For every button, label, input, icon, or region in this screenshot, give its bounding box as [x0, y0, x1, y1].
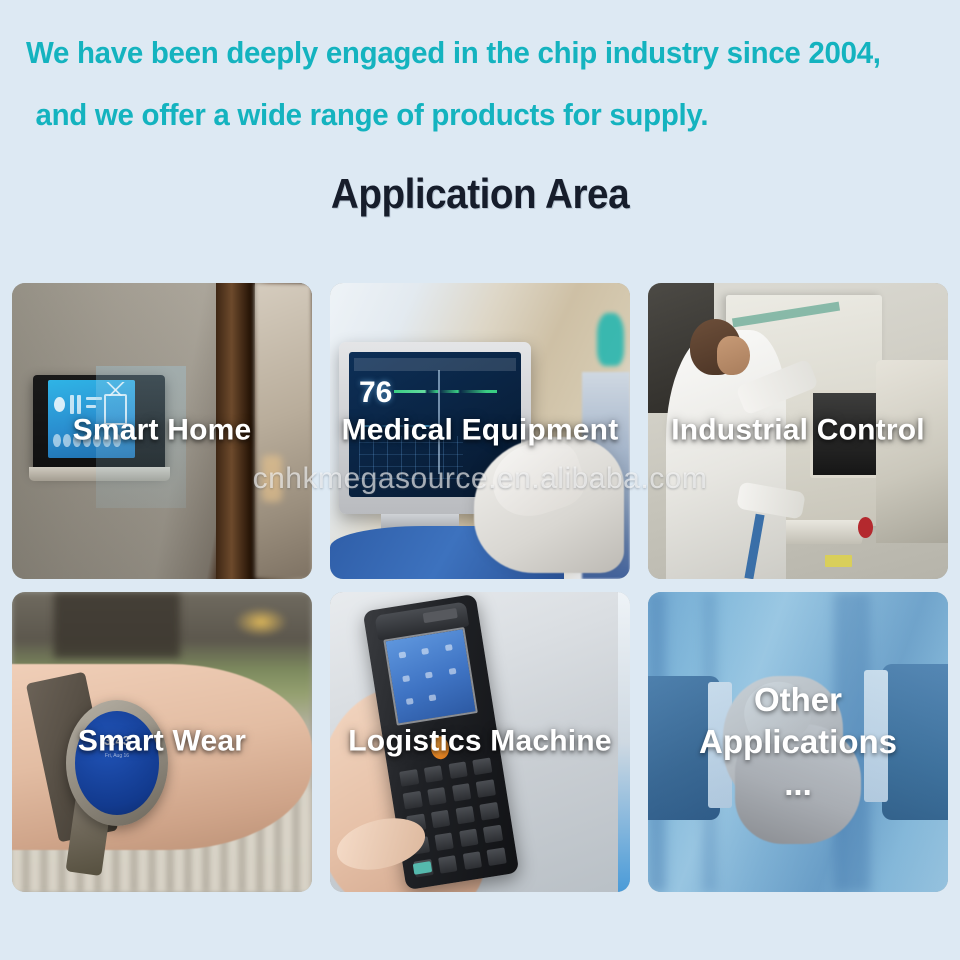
- card-label-smart-home: Smart Home: [12, 413, 312, 447]
- card-label-line-2: Applications: [648, 721, 948, 763]
- application-area-grid: Smart Home 76 Medical Equipmen: [12, 283, 948, 892]
- sun-icon: [54, 397, 65, 413]
- emergency-stop-button: [858, 517, 873, 538]
- card-label-industrial-control: Industrial Control: [648, 413, 948, 447]
- card-smart-wear[interactable]: 3:43 Fri, Aug 16 Smart Wear: [12, 592, 312, 892]
- vitals-value: 76: [359, 378, 392, 408]
- screen-text-line: [86, 405, 96, 408]
- thermometer-icon: [70, 395, 73, 414]
- tagline-line-1: We have been deeply engaged in the chip …: [26, 22, 889, 84]
- card-label-line-1: Other: [648, 679, 948, 721]
- card-label-other-applications: Other Applications ...: [648, 679, 948, 805]
- card-industrial-control[interactable]: Industrial Control: [648, 283, 948, 579]
- card-label-logistics-machine: Logistics Machine: [330, 724, 630, 758]
- card-label-line-3: ...: [648, 763, 948, 805]
- card-medical-equipment[interactable]: 76 Medical Equipment: [330, 283, 630, 579]
- card-other-applications[interactable]: Other Applications ...: [648, 592, 948, 892]
- page-header: We have been deeply engaged in the chip …: [0, 0, 960, 220]
- ecg-waveform: [394, 390, 498, 393]
- card-logistics-machine[interactable]: Logistics Machine: [330, 592, 630, 892]
- tagline-line-2: and we offer a wide range of products fo…: [26, 84, 889, 146]
- clock-icon: [77, 395, 80, 414]
- keypad[interactable]: [399, 757, 506, 877]
- smartwatch-device: 3:43 Fri, Aug 16: [66, 700, 168, 826]
- page-title: Application Area: [62, 168, 897, 220]
- terminal-screen: [383, 627, 478, 726]
- card-label-smart-wear: Smart Wear: [12, 724, 312, 758]
- card-smart-home[interactable]: Smart Home: [12, 283, 312, 579]
- card-label-medical-equipment: Medical Equipment: [330, 413, 630, 447]
